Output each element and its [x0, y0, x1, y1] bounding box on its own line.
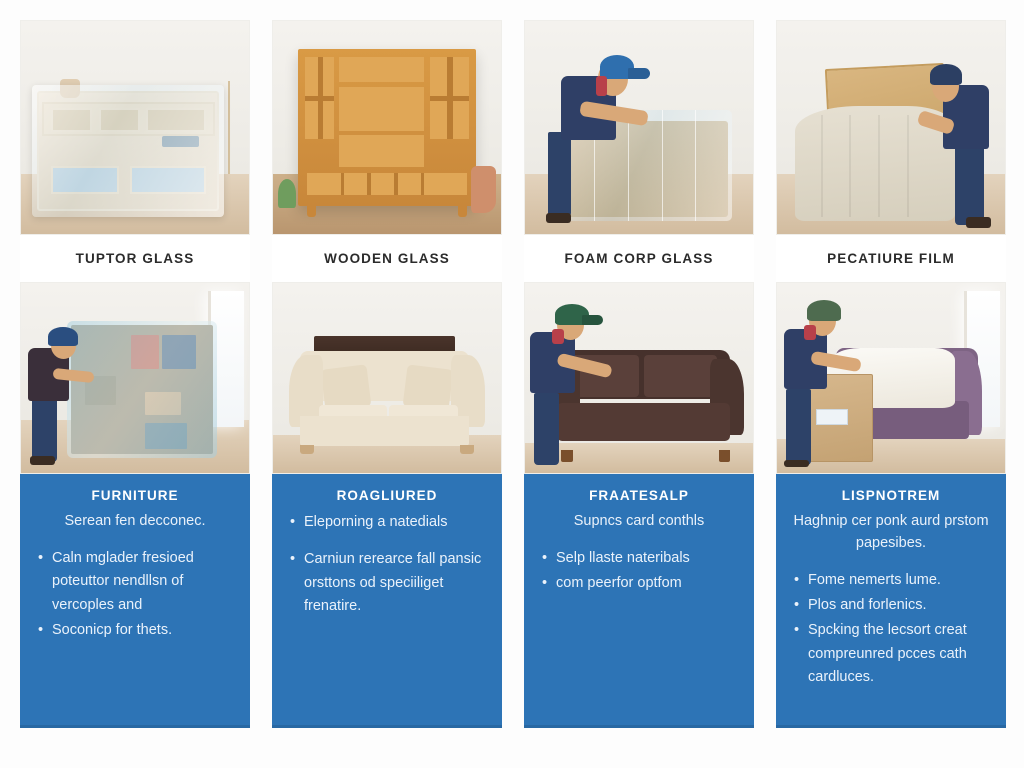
scene-wrapping-bookshelf — [21, 283, 249, 473]
bullet-item: Eleporning a natedials — [288, 511, 486, 534]
info-panel-bullets-1: Caln mglader fresioed poteuttor nendllsn… — [36, 547, 234, 645]
photo-card-4[interactable] — [776, 20, 1006, 235]
caption-label-1: TUPTOR GLASS — [76, 251, 195, 266]
bullet-item: com peerfor optfom — [540, 572, 738, 595]
worker-legs — [32, 393, 57, 461]
sofa-seat — [557, 403, 730, 441]
info-panel-subtitle-3: Supncs card conthls — [540, 511, 738, 533]
photo-card-8[interactable] — [776, 282, 1006, 474]
info-panel-title-3: FRAATESALP — [540, 488, 738, 503]
info-panel-title-4: LISPNOTREM — [792, 488, 990, 503]
info-panel-bullets-4: Fome nemerts lume. Plos and forlenics. S… — [792, 569, 990, 692]
bookcase-body — [298, 49, 476, 207]
blue-stretch-film — [67, 321, 217, 458]
caption-band-2: WOODEN GLASS — [272, 235, 502, 282]
info-panel-bullets-3: Selp llaste nateribals com peerfor optfo… — [540, 547, 738, 598]
worker-collar — [804, 325, 815, 340]
scene-worker-moving-blanket — [777, 21, 1005, 234]
cabinet-leg — [307, 205, 316, 218]
info-panel-3[interactable]: FRAATESALP Supncs card conthls Selp llas… — [524, 474, 754, 728]
caption-label-2: WOODEN GLASS — [324, 251, 450, 266]
scene-cream-sofa — [273, 283, 501, 473]
scene-wrapped-shelf-unit — [21, 21, 249, 234]
bullet-item: Carniun rerearce fall pansic orsttons od… — [288, 548, 486, 618]
cushion-pillow — [403, 364, 453, 411]
potted-plant — [278, 179, 296, 209]
worker-shoe — [30, 456, 55, 466]
worker-shoe — [784, 460, 809, 468]
shipping-label — [816, 409, 847, 424]
photo-card-1[interactable] — [20, 20, 250, 235]
plastic-film-overlay — [32, 85, 224, 217]
sofa-foot — [561, 450, 572, 461]
bullet-item: Spcking the lecsort creat compreunred pc… — [792, 619, 990, 689]
photo-card-7[interactable] — [524, 282, 754, 474]
bullet-item: Soconicp for thets. — [36, 619, 234, 642]
cap-icon — [48, 327, 78, 346]
divider — [421, 173, 425, 195]
cushion-pillow — [321, 364, 371, 411]
worker-shoe — [966, 217, 991, 228]
scene-purple-sofa-box — [777, 283, 1005, 473]
scene-worker-wrapping-chest — [525, 21, 753, 234]
info-panel-2[interactable]: ROAGLIURED Eleporning a natedials Carniu… — [272, 474, 502, 728]
scene-wooden-bookcase — [273, 21, 501, 234]
cabinet-leg — [458, 205, 467, 218]
info-panel-subtitle-4: Haghnip cer ponk aurd prstom papesibes. — [792, 511, 990, 555]
worker-legs — [786, 389, 811, 465]
worker-legs — [548, 132, 571, 217]
cap-icon — [930, 64, 962, 85]
sofa-foot — [719, 450, 730, 461]
worker-collar — [552, 329, 563, 344]
base-row — [307, 173, 467, 195]
worker-collar — [596, 76, 607, 95]
photo-card-3[interactable] — [524, 20, 754, 235]
content-grid: TUPTOR GLASS WOODEN GLASS FOAM CORP GLAS… — [20, 20, 1004, 748]
open-bay — [339, 87, 424, 131]
divider — [341, 173, 345, 195]
sofa-foot — [460, 445, 474, 455]
info-panel-1[interactable]: FURNITURE Serean fen decconec. Caln mgla… — [20, 474, 250, 728]
photo-card-2[interactable] — [272, 20, 502, 235]
divider — [367, 173, 371, 195]
divider — [318, 57, 323, 139]
info-panel-bullets-2: Eleporning a natedials Carniun rerearce … — [288, 511, 486, 621]
caption-label-3: FOAM CORP GLASS — [564, 251, 713, 266]
back-cushion — [644, 355, 717, 397]
divider — [394, 173, 398, 195]
photo-card-5[interactable] — [20, 282, 250, 474]
open-bay — [339, 57, 424, 82]
sofa-foot — [300, 445, 314, 455]
worker-shoe — [546, 213, 571, 224]
divider — [447, 57, 452, 139]
caption-band-4: PECATIURE FILM — [776, 235, 1006, 282]
bullet-item: Caln mglader fresioed poteuttor nendllsn… — [36, 547, 234, 617]
info-panel-subtitle-1: Serean fen decconec. — [36, 511, 234, 533]
flower-vase — [471, 166, 496, 213]
cap-icon — [807, 300, 841, 321]
photo-card-6[interactable] — [272, 282, 502, 474]
caption-band-1: TUPTOR GLASS — [20, 235, 250, 282]
open-bay — [339, 135, 424, 167]
bullet-item: Selp llaste nateribals — [540, 547, 738, 570]
worker-legs — [534, 393, 559, 465]
cap-brim-icon — [628, 68, 651, 79]
scene-brown-sofa-worker — [525, 283, 753, 473]
worker-legs — [955, 136, 985, 225]
bullet-item: Plos and forlenics. — [792, 594, 990, 617]
info-panel-title-2: ROAGLIURED — [288, 488, 486, 503]
caption-label-4: PECATIURE FILM — [827, 251, 955, 266]
info-panel-title-1: FURNITURE — [36, 488, 234, 503]
bullet-item: Fome nemerts lume. — [792, 569, 990, 592]
page-root: TUPTOR GLASS WOODEN GLASS FOAM CORP GLAS… — [0, 0, 1024, 768]
sofa-skirt — [300, 416, 469, 446]
cap-brim-icon — [582, 315, 603, 325]
caption-band-3: FOAM CORP GLASS — [524, 235, 754, 282]
info-panel-4[interactable]: LISPNOTREM Haghnip cer ponk aurd prstom … — [776, 474, 1006, 728]
